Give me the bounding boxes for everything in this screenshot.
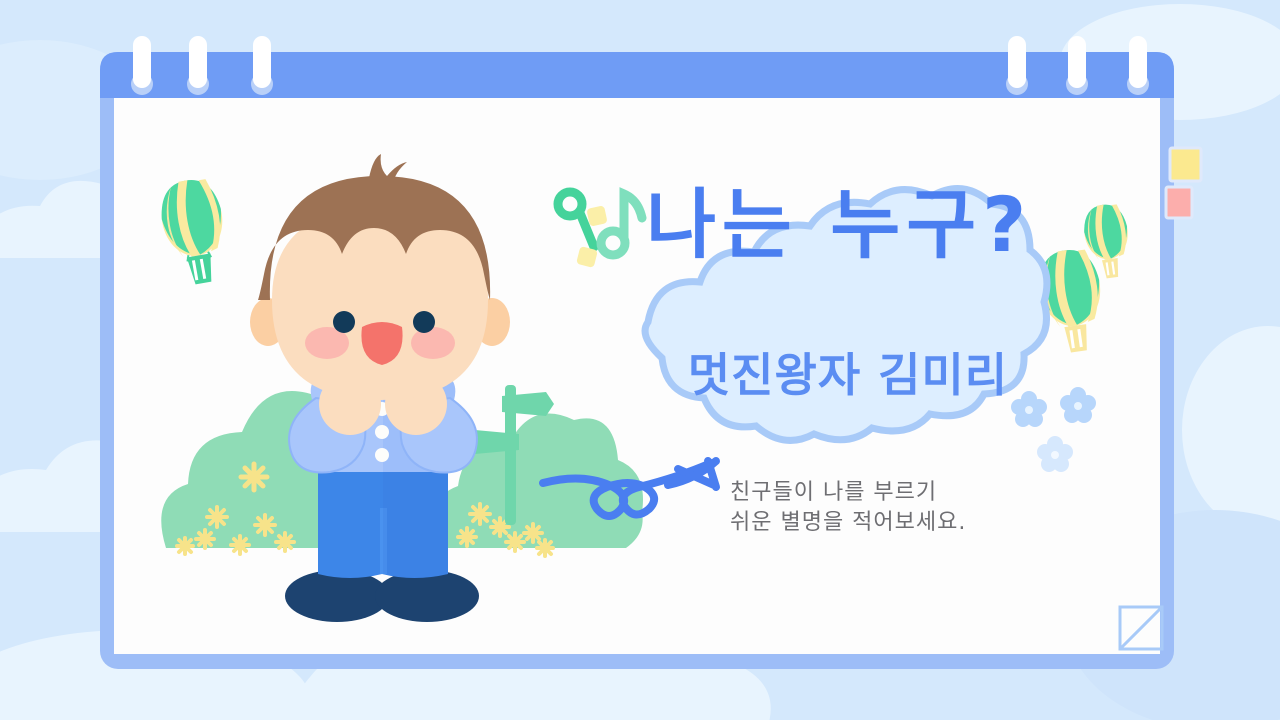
name-bubble-shape [645,189,1047,441]
slide-canvas: 나는 누구? 멋진왕자 김미리 친구들이 나를 부르기 쉬운 별명을 적어보세요… [0,0,1280,720]
name-bubble[interactable] [0,0,1280,720]
